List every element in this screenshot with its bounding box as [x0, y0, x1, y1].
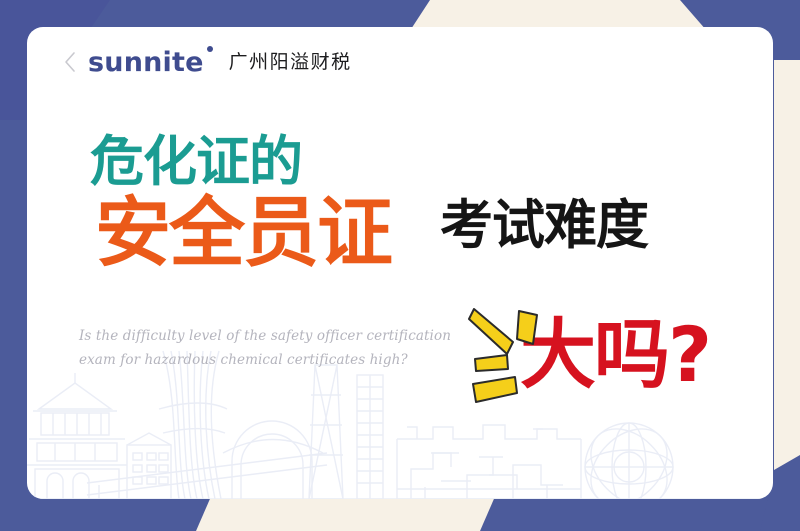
poster-stage: sunnite 广州阳溢财税 危化证的 安全员证 考试难度 大吗? Is the…	[0, 0, 800, 531]
english-subtitle: Is the difficulty level of the safety of…	[79, 325, 451, 372]
headline-block: 危化证的 安全员证 考试难度 大吗? Is the difficulty lev…	[27, 27, 773, 499]
headline-line-4: 大吗?	[520, 317, 710, 393]
headline-line-2: 安全员证	[95, 195, 391, 271]
headline-line-1: 危化证的	[90, 135, 302, 189]
headline-line-3: 考试难度	[440, 199, 648, 252]
poster-header: sunnite 广州阳溢财税	[63, 45, 352, 79]
brand-company-name: 广州阳溢财税	[229, 53, 352, 72]
brand-logo[interactable]: sunnite	[88, 49, 204, 76]
chevron-left-icon[interactable]	[63, 51, 77, 73]
guangzhou-skyline-watermark	[27, 349, 773, 499]
brand-mark-text: sunnite	[88, 49, 204, 76]
registered-dot-icon	[207, 46, 213, 52]
content-card: sunnite 广州阳溢财税 危化证的 安全员证 考试难度 大吗? Is the…	[27, 27, 773, 499]
starburst-rays-icon	[467, 299, 567, 407]
